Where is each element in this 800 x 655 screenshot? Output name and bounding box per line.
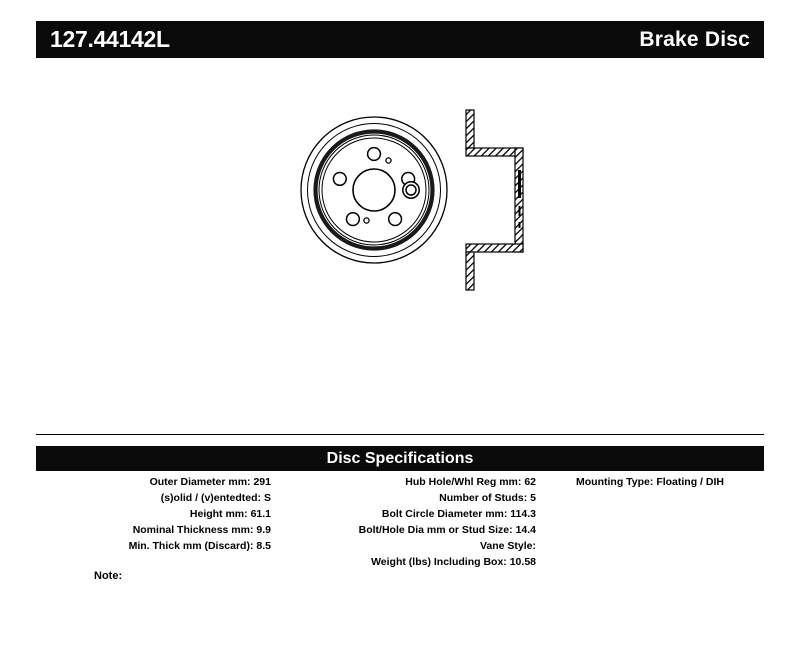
spec-row: (s)olid / (v)entedted: S <box>36 491 271 507</box>
lug-hole <box>347 213 360 226</box>
spec-row: Min. Thick mm (Discard): 8.5 <box>36 539 271 555</box>
spec-label: Hub Hole/Whl Reg mm: <box>405 476 521 488</box>
spec-row: Hub Hole/Whl Reg mm: 62 <box>271 475 536 491</box>
product-type-label: Brake Disc <box>639 29 750 50</box>
brake-disc-front-view <box>301 117 447 263</box>
spec-title-bar: Disc Specifications <box>36 446 764 471</box>
lug-hole <box>368 148 381 161</box>
spec-divider-rule <box>36 434 764 435</box>
brake-disc-cross-section-view <box>466 110 523 290</box>
spec-column-middle: Hub Hole/Whl Reg mm: 62 Number of Studs:… <box>271 475 536 571</box>
spec-columns: Outer Diameter mm: 291 (s)olid / (v)ente… <box>36 475 764 571</box>
spec-value: 10.58 <box>510 556 536 568</box>
spec-row: Vane Style: <box>271 539 536 555</box>
spec-value: 114.3 <box>510 508 536 520</box>
spec-row: Height mm: 61.1 <box>36 507 271 523</box>
brake-disc-drawing-svg <box>36 70 764 420</box>
spec-value: 291 <box>253 476 271 488</box>
spec-label: Outer Diameter mm: <box>150 476 251 488</box>
spec-label: Bolt Circle Diameter mm: <box>382 508 507 520</box>
spec-value: 8.5 <box>256 540 271 552</box>
header-bar: 127.44142L Brake Disc <box>36 21 764 58</box>
part-number: 127.44142L <box>50 28 170 51</box>
extractor-hole-inner <box>406 185 416 195</box>
spec-value: S <box>264 492 271 504</box>
spec-value: 9.9 <box>256 524 271 536</box>
spec-label: Vane Style: <box>480 540 536 552</box>
spec-row: Bolt/Hole Dia mm or Stud Size: 14.4 <box>271 523 536 539</box>
spec-label: Nominal Thickness mm: <box>133 524 254 536</box>
spec-label: Min. Thick mm (Discard): <box>129 540 254 552</box>
note-label: Note: <box>94 569 122 584</box>
spec-value: 5 <box>530 492 536 504</box>
spec-value: 61.1 <box>251 508 271 520</box>
pin-hole <box>386 158 391 163</box>
spec-label: (s)olid / (v)entedted: <box>161 492 261 504</box>
spec-value: 14.4 <box>516 524 536 536</box>
spec-label: Height mm: <box>190 508 248 520</box>
pin-hole <box>364 218 369 223</box>
lug-hole <box>333 173 346 186</box>
note-block: Note: <box>36 569 764 584</box>
spec-label: Number of Studs: <box>439 492 527 504</box>
spec-value: Floating / DIH <box>656 476 724 488</box>
spec-row: Nominal Thickness mm: 9.9 <box>36 523 271 539</box>
spec-column-left: Outer Diameter mm: 291 (s)olid / (v)ente… <box>36 475 271 555</box>
lug-hole <box>389 213 402 226</box>
spec-row: Mounting Type: Floating / DIH <box>536 475 764 491</box>
spec-value: 62 <box>524 476 536 488</box>
spec-label: Mounting Type: <box>576 476 653 488</box>
spec-row: Bolt Circle Diameter mm: 114.3 <box>271 507 536 523</box>
spec-label: Bolt/Hole Dia mm or Stud Size: <box>359 524 513 536</box>
spec-row: Outer Diameter mm: 291 <box>36 475 271 491</box>
spec-row: Number of Studs: 5 <box>271 491 536 507</box>
spec-column-right: Mounting Type: Floating / DIH <box>536 475 764 491</box>
spec-title: Disc Specifications <box>327 451 474 467</box>
technical-drawing <box>36 70 764 420</box>
spec-label: Weight (lbs) Including Box: <box>371 556 507 568</box>
